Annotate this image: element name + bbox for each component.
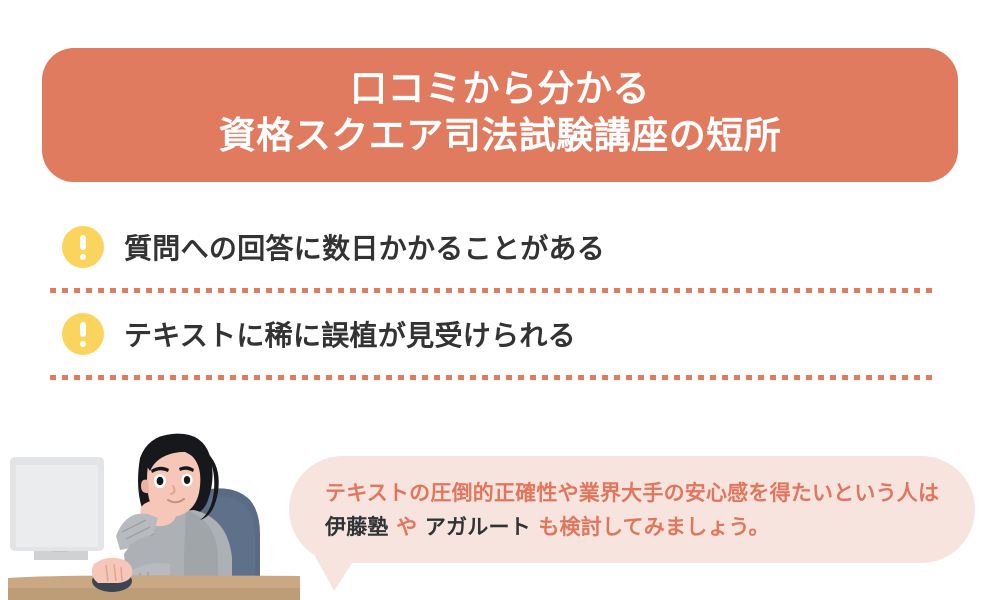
list-item: 質問への回答に数日かかることがある	[0, 206, 1000, 288]
infographic-root: 口コミから分かる 資格スクエア司法試験講座の短所 質問への回答に数日かかることが…	[0, 0, 1000, 600]
header-banner: 口コミから分かる 資格スクエア司法試験講座の短所	[42, 48, 958, 182]
list-item-label: 質問への回答に数日かかることがある	[124, 227, 605, 267]
exclamation-circle-icon	[62, 226, 104, 268]
bubble-line-2: 伊藤塾 や アガルート も検討してみましょう。	[325, 510, 941, 544]
speech-bubble: テキストの圧倒的正確性や業界大手の安心感を得たいという人は 伊藤塾 や アガルー…	[289, 456, 975, 563]
bubble-line-1: テキストの圧倒的正確性や業界大手の安心感を得たいという人は	[325, 476, 941, 510]
bubble-text-segment-brand-itojuku: 伊藤塾	[325, 515, 389, 539]
banner-title-line-2: 資格スクエア司法試験講座の短所	[219, 112, 782, 159]
woman-at-computer-illustration	[8, 428, 300, 600]
bubble-text-segment: テキストの圧倒的正確性や業界大手の安心感を得たいという人は	[325, 481, 939, 505]
bubble-text-segment-brand-agaroot: アガルート	[425, 515, 531, 539]
banner-title-line-1: 口コミから分かる	[350, 65, 650, 112]
bubble-text-segment: や	[396, 515, 417, 539]
drawback-list: 質問への回答に数日かかることがある テキストに稀に誤植が見受けられる	[0, 206, 1000, 380]
exclamation-circle-icon	[62, 313, 104, 355]
dotted-divider	[50, 375, 935, 380]
list-item: テキストに稀に誤植が見受けられる	[0, 293, 1000, 375]
bubble-text-segment: も検討してみましょう。	[538, 515, 769, 539]
list-item-label: テキストに稀に誤植が見受けられる	[124, 314, 576, 354]
